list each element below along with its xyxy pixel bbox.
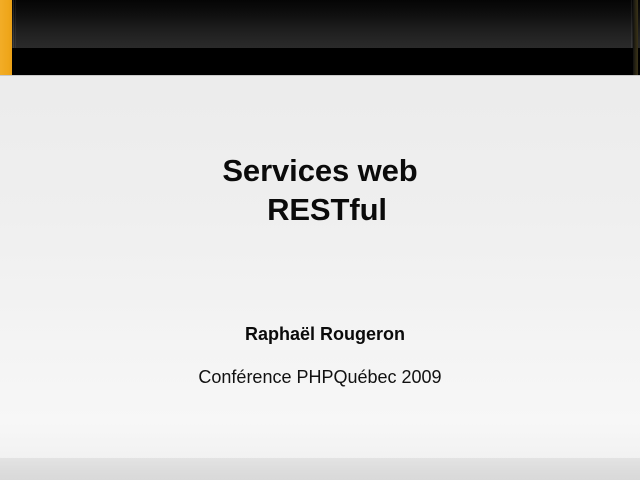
header-gradient-strip — [0, 0, 640, 48]
slide-title-line-2: RESTful — [0, 190, 640, 229]
slide-title: Services web RESTful — [0, 151, 640, 229]
slide-content: Services web RESTful Raphaël Rougeron Co… — [0, 75, 640, 480]
presenter-name: Raphaël Rougeron — [0, 322, 640, 346]
slide-header-band — [0, 0, 640, 75]
header-right-hairline — [631, 0, 632, 48]
presentation-slide: Services web RESTful Raphaël Rougeron Co… — [0, 0, 640, 480]
slide-bottom-band — [0, 458, 640, 480]
slide-subtitle: Raphaël Rougeron Conférence PHPQuébec 20… — [0, 322, 640, 389]
orange-accent-bar — [0, 0, 12, 75]
header-inner-hairline-2 — [15, 0, 16, 48]
conference-name: Conférence PHPQuébec 2009 — [0, 365, 640, 389]
header-black-strip — [0, 48, 640, 75]
header-inner-hairline-1 — [13, 0, 14, 48]
slide-title-line-1: Services web — [0, 151, 640, 190]
orange-accent-bar-shading — [0, 0, 12, 75]
header-right-edge-accent — [633, 0, 638, 75]
header-bottom-divider — [0, 75, 640, 76]
